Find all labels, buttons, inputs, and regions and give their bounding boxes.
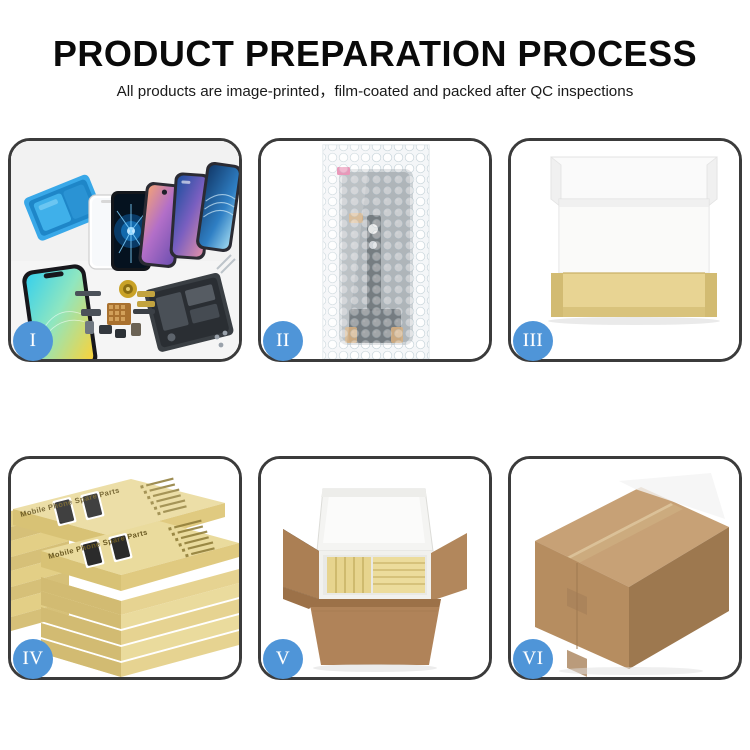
process-step-panel-2: II xyxy=(258,138,492,362)
step-badge-2: II xyxy=(263,321,303,361)
process-steps-grid: I xyxy=(8,138,742,680)
header: PRODUCT PREPARATION PROCESS All products… xyxy=(0,0,750,102)
process-step-panel-4: Mobile Phone Spare Parts xyxy=(8,456,242,680)
process-step-panel-1: I xyxy=(8,138,242,362)
step-badge-4: IV xyxy=(13,639,53,679)
step-badge-6: VI xyxy=(513,639,553,679)
step-badge-1: I xyxy=(13,321,53,361)
page-title: PRODUCT PREPARATION PROCESS xyxy=(0,0,750,74)
page-subtitle: All products are image-printed，film-coat… xyxy=(0,74,750,101)
process-step-panel-3: III xyxy=(508,138,742,362)
process-step-panel-6: VI xyxy=(508,456,742,680)
product-preparation-infographic: PRODUCT PREPARATION PROCESS All products… xyxy=(0,0,750,750)
step-badge-5: V xyxy=(263,639,303,679)
step-badge-3: III xyxy=(513,321,553,361)
process-step-panel-5: V xyxy=(258,456,492,680)
